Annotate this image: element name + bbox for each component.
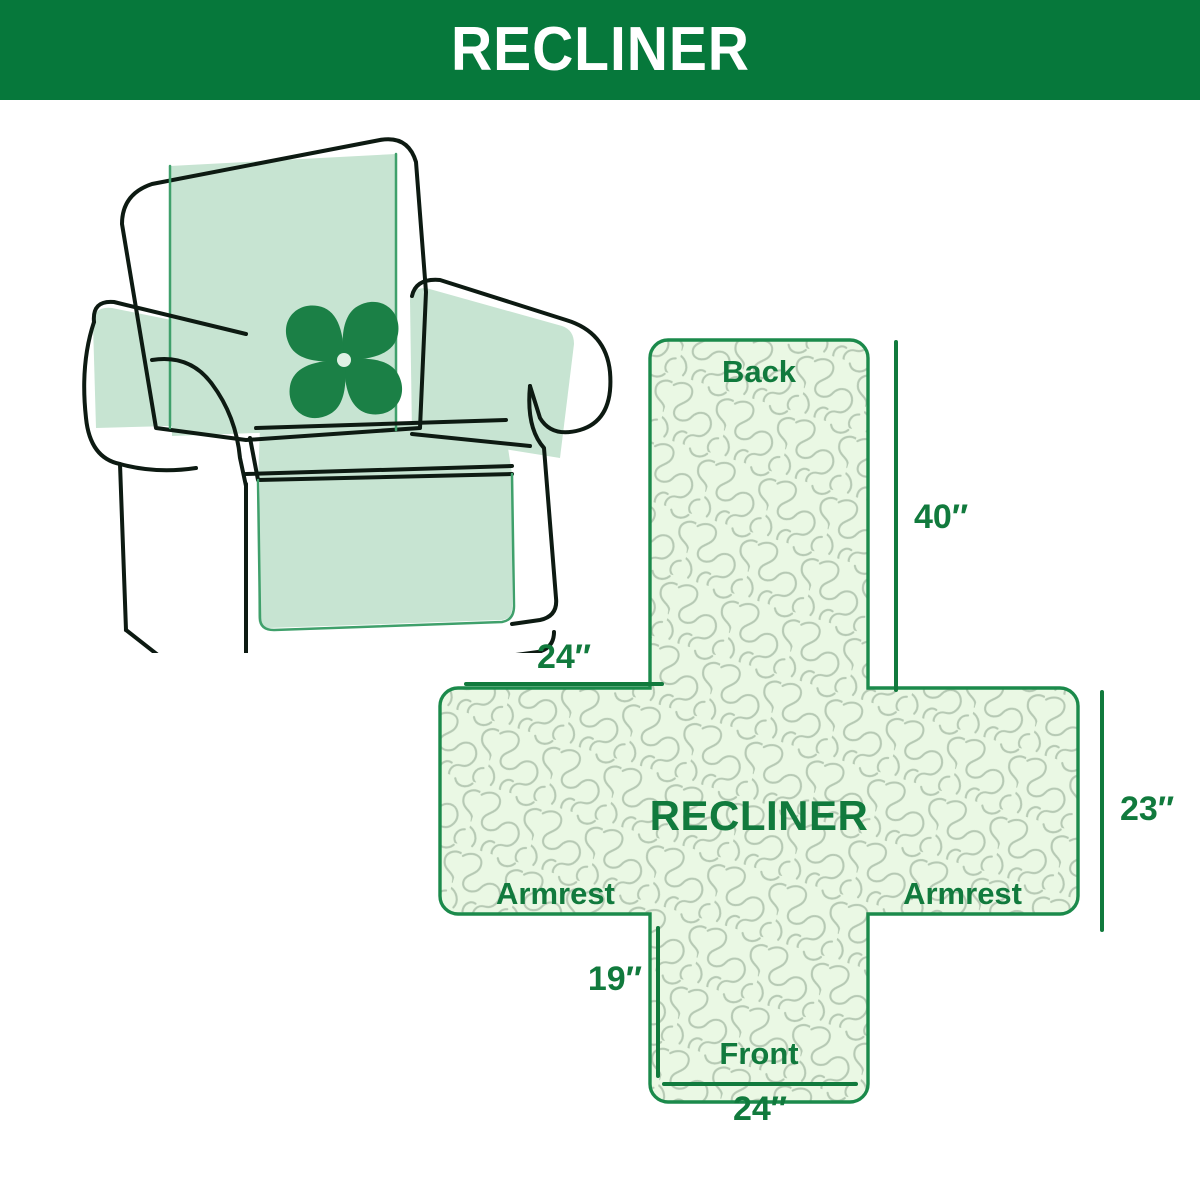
label-armrest-left: Armrest bbox=[496, 876, 615, 911]
dimension-back-width-value: 24″ bbox=[537, 638, 591, 676]
dimension-center-height: 23″ bbox=[1102, 692, 1174, 930]
dimension-back-height: 40″ bbox=[896, 342, 968, 690]
page-title: RECLINER bbox=[451, 19, 750, 81]
label-back: Back bbox=[722, 354, 797, 389]
label-armrest-right: Armrest bbox=[903, 876, 1022, 911]
cover-pattern-dimension-diagram: Back RECLINER Armrest Armrest Front 40″ … bbox=[430, 300, 1200, 1150]
dimension-front-height-value: 19″ bbox=[588, 960, 642, 998]
header-banner: RECLINER bbox=[0, 0, 1200, 100]
label-front: Front bbox=[719, 1036, 798, 1071]
product-dimension-infographic: RECLINER bbox=[0, 0, 1200, 1200]
cover-outline-shape bbox=[430, 300, 1200, 1150]
label-center-recliner: RECLINER bbox=[650, 792, 869, 839]
dimension-front-width-value: 24″ bbox=[733, 1090, 787, 1128]
dimension-back-width: 24″ bbox=[466, 638, 662, 684]
dimension-back-height-value: 40″ bbox=[914, 498, 968, 536]
dimension-center-height-value: 23″ bbox=[1120, 790, 1174, 828]
dimension-front-height: 19″ bbox=[588, 928, 658, 1076]
